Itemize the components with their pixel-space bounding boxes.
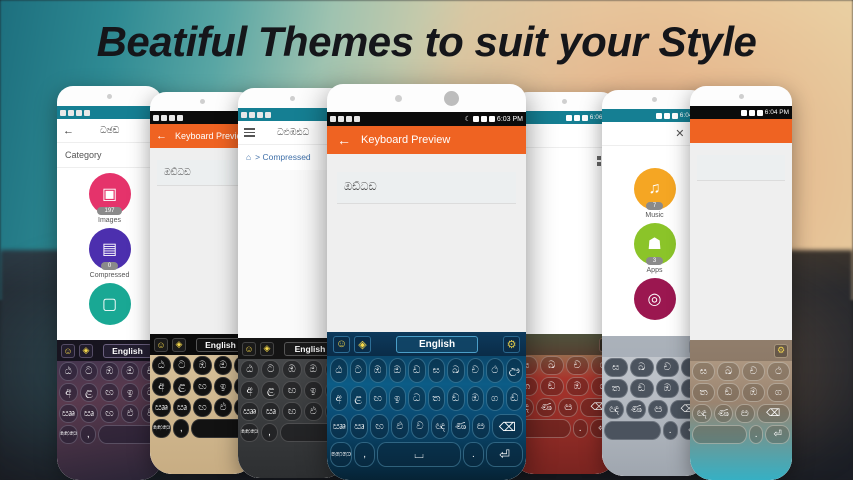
- key[interactable]: ට: [173, 356, 192, 375]
- keyboard-row-1: ඨ ට ඹ ඔ ඩ: [59, 362, 160, 381]
- status-bar: [57, 106, 162, 119]
- front-camera-icon: [444, 91, 459, 106]
- key[interactable]: ඛ: [540, 356, 564, 375]
- keyboard-rows: ඨ ට ඹ ඔ ඩ ඝ ඛ ච ථ ඌ අ ළ ඟ ඉ ධ ත: [327, 356, 526, 471]
- backspace-icon[interactable]: ⌫: [757, 404, 791, 423]
- keyboard-theme-blue: ☺ ◈ English ⚙ ඨ ට ඹ ඔ ඩ ඝ ඛ ච ථ ඌ: [327, 332, 526, 480]
- app-bar-title: ධඵඹඪධ: [277, 127, 309, 138]
- sync-icon: [330, 116, 336, 122]
- comma-key[interactable]: ,: [80, 425, 96, 444]
- enter-icon[interactable]: ⏎: [486, 442, 523, 467]
- back-arrow-icon[interactable]: ←: [156, 130, 167, 142]
- key[interactable]: ඍ: [261, 402, 280, 421]
- keyboard-theme-brown: ⚙ ඝ ඛ ච ථ ත ඞ ඹ ග ඥ ණ ඏ: [690, 340, 792, 480]
- key[interactable]: ඩ: [408, 358, 426, 383]
- key[interactable]: ඟ: [100, 404, 119, 423]
- keyboard-row-3: ඎ ඍ ඟ ඵ ව: [59, 404, 160, 423]
- key[interactable]: ඹ: [656, 379, 680, 398]
- key[interactable]: ඔ: [389, 358, 407, 383]
- sensor-dot: [290, 96, 295, 101]
- key[interactable]: ඎ: [330, 414, 348, 439]
- key[interactable]: ඏ: [648, 400, 668, 419]
- category-list: ▣ 197 Images ▤ 0 Compressed ▢: [57, 168, 162, 325]
- screenshot-icon: [68, 110, 74, 116]
- key[interactable]: ණ: [451, 414, 469, 439]
- back-arrow-icon[interactable]: ←: [337, 132, 351, 148]
- keyboard-row-2: අ ළ ඟ ඉ ධ ත ඞ ඹ ග ඬ: [330, 386, 523, 411]
- dnd-icon: ☾: [465, 115, 471, 123]
- key[interactable]: ඹ: [369, 358, 387, 383]
- key[interactable]: ඥ: [431, 414, 449, 439]
- space-key[interactable]: [604, 421, 661, 440]
- sensor-dot: [652, 97, 657, 102]
- close-icon[interactable]: ✕: [675, 127, 684, 140]
- app-bar: ← ධඡඞ: [57, 119, 162, 143]
- key[interactable]: ඟ: [282, 402, 301, 421]
- keyboard-toolbar: ⚙: [690, 340, 792, 361]
- key[interactable]: ඎ: [59, 404, 78, 423]
- sensor-dot: [562, 99, 567, 104]
- keyboard-row-2: අ ළ ඟ ඉ ධ: [59, 383, 160, 402]
- sdcard-icon: [84, 110, 90, 116]
- key[interactable]: ඞ: [540, 377, 564, 396]
- disc-icon: ◎: [634, 278, 676, 320]
- sensor-dot: [395, 95, 402, 102]
- key[interactable]: ඞ: [630, 379, 654, 398]
- signal-icon: [749, 110, 755, 116]
- numeric-key[interactable]: ෧෨෩: [240, 423, 259, 442]
- key[interactable]: ඹ: [193, 356, 212, 375]
- status-bar: 6:04 PM: [690, 106, 792, 119]
- key[interactable]: ඟ: [282, 381, 301, 400]
- key[interactable]: ඨ: [152, 356, 171, 375]
- category-item-apps[interactable]: ☗ 3 Apps: [634, 223, 676, 274]
- numeric-key[interactable]: ෧෨෩: [330, 442, 352, 467]
- smiley-icon[interactable]: ☺: [61, 344, 75, 358]
- key[interactable]: ඵ: [304, 402, 323, 421]
- key[interactable]: ච: [566, 356, 590, 375]
- key[interactable]: ඹ: [100, 362, 119, 381]
- sync-icon: [241, 112, 247, 118]
- app-bar-title: ධඡඞ: [100, 125, 119, 136]
- usb-icon: [257, 112, 263, 118]
- keyboard-row-4: . ⏎: [514, 419, 615, 438]
- sticker-icon[interactable]: ◈: [172, 338, 186, 352]
- status-right: 6:04 PM: [741, 109, 789, 116]
- key[interactable]: ඨ: [240, 360, 259, 379]
- period-key[interactable]: .: [749, 425, 764, 444]
- keyboard-row-1: ඨ ට ඹ ඔ ඩ ඝ ඛ ච ථ ඌ: [330, 358, 523, 383]
- key[interactable]: ඨ: [59, 362, 78, 381]
- key[interactable]: ළ: [173, 377, 192, 396]
- space-key[interactable]: ⌴: [377, 442, 460, 467]
- keyboard-row-3: ඎ ඍ ඟ ඵ ව ඥ ණ ඏ ⌫: [330, 414, 523, 439]
- usb-icon: [76, 110, 82, 116]
- category-count: 0: [101, 262, 118, 270]
- breadcrumb-label: > Compressed: [255, 152, 311, 162]
- key[interactable]: ඏ: [558, 398, 578, 417]
- key[interactable]: ඉ: [389, 386, 407, 411]
- key[interactable]: ට: [350, 358, 368, 383]
- category-item-compressed[interactable]: ▤ 0 Compressed: [89, 228, 131, 279]
- status-time: 6:04 PM: [765, 109, 789, 116]
- category-label: Music: [645, 212, 663, 219]
- backspace-icon[interactable]: ⌫: [492, 414, 523, 439]
- page-title: Beatiful Themes to suit your Style: [0, 18, 853, 66]
- keyboard-rows: ඝ ඛ ච ථ ත ඞ ඹ ග ඥ ණ ඏ ⌫: [690, 361, 792, 447]
- key[interactable]: ඎ: [240, 402, 259, 421]
- key[interactable]: ඵ: [214, 398, 233, 417]
- period-key[interactable]: .: [663, 421, 678, 440]
- key[interactable]: ග: [486, 386, 504, 411]
- key[interactable]: ච: [467, 358, 485, 383]
- sdcard-icon: [265, 112, 271, 118]
- keyboard-row-4: . ⏎: [692, 425, 790, 444]
- key[interactable]: ච: [742, 362, 765, 381]
- key[interactable]: ඍ: [350, 414, 368, 439]
- key[interactable]: ථ: [486, 358, 504, 383]
- sync-icon: [153, 115, 159, 121]
- preview-input[interactable]: [697, 155, 785, 181]
- sensor-dot: [107, 94, 112, 99]
- sticker-icon[interactable]: ◈: [79, 344, 93, 358]
- status-time: 6:03 PM: [497, 116, 523, 123]
- key[interactable]: ඟ: [369, 386, 387, 411]
- space-key[interactable]: [692, 425, 747, 444]
- key[interactable]: ඛ: [717, 362, 740, 381]
- key[interactable]: ඛ: [630, 358, 654, 377]
- category-item-folder[interactable]: ▢: [89, 283, 131, 325]
- category-item-music[interactable]: ♫ 7 Music: [634, 168, 676, 219]
- sdcard-icon: [354, 116, 360, 122]
- phone-bezel-top: [327, 84, 526, 112]
- category-header: Category: [57, 143, 162, 168]
- key[interactable]: ඹ: [282, 360, 301, 379]
- signal-icon: [574, 115, 580, 121]
- back-arrow-icon[interactable]: ←: [63, 125, 74, 137]
- keyboard-toolbar: ☺ ◈ English ⚙: [327, 332, 526, 356]
- sync-icon: [60, 110, 66, 116]
- keyboard-rows: ඨ ට ඹ ඔ ඩ අ ළ ඟ ඉ ධ ඎ ඍ ඟ ඵ: [57, 361, 162, 447]
- key[interactable]: ණ: [536, 398, 556, 417]
- app-bar: ← Keyboard Preview: [327, 126, 526, 154]
- key[interactable]: ඥ: [692, 404, 712, 423]
- key[interactable]: ඔ: [214, 356, 233, 375]
- key[interactable]: ඬ: [506, 386, 524, 411]
- key[interactable]: ග: [767, 383, 790, 402]
- period-key[interactable]: .: [573, 419, 588, 438]
- status-icons-left: [60, 110, 90, 116]
- category-label: Images: [98, 217, 121, 224]
- key[interactable]: ඍ: [80, 404, 99, 423]
- phone-mockup-4-featured: ☾ 6:03 PM ← Keyboard Preview ඔඩ්ධඩ ☺ ◈ E…: [327, 84, 526, 480]
- key[interactable]: ඏ: [735, 404, 755, 423]
- wifi-icon: [566, 115, 572, 121]
- key[interactable]: අ: [152, 377, 171, 396]
- battery-icon: [489, 116, 495, 122]
- category-count: 7: [646, 202, 663, 210]
- screenshot-icon: [338, 116, 344, 122]
- status-icons-left: [153, 115, 183, 121]
- key[interactable]: ඹ: [467, 386, 485, 411]
- wifi-icon: [656, 113, 662, 119]
- key[interactable]: ළ: [261, 381, 280, 400]
- key[interactable]: ඉ: [121, 383, 140, 402]
- key[interactable]: ළ: [350, 386, 368, 411]
- keyboard-row-3: ඥ ණ ඏ ⌫: [692, 404, 790, 423]
- category-item-images[interactable]: ▣ 197 Images: [89, 173, 131, 224]
- period-key[interactable]: .: [463, 442, 484, 467]
- key[interactable]: ඟ: [193, 398, 212, 417]
- preview-input[interactable]: ඔඩ්ධඩ: [337, 172, 516, 204]
- gear-icon[interactable]: ⚙: [774, 344, 788, 358]
- key[interactable]: ඞ: [447, 386, 465, 411]
- keyboard-row-4: ෧෨෩ , ⌴ . ⏎: [330, 442, 523, 467]
- key[interactable]: ඞ: [717, 383, 740, 402]
- category-count: 197: [97, 207, 121, 215]
- key[interactable]: ඔ: [121, 362, 140, 381]
- preview-input[interactable]: ඔඩ්ධඩ: [157, 160, 248, 186]
- usb-icon: [346, 116, 352, 122]
- key[interactable]: ඝ: [604, 358, 628, 377]
- app-bar-title: Keyboard Preview: [361, 134, 450, 146]
- phone-screen-7: 6:04 PM ⚙ ඝ ඛ ච ථ ත ඞ ඹ: [690, 106, 792, 480]
- key[interactable]: ට: [80, 362, 99, 381]
- numeric-key[interactable]: ෧෨෩: [152, 419, 171, 438]
- status-right: ☾ 6:03 PM: [465, 115, 523, 123]
- key[interactable]: ච: [656, 358, 680, 377]
- folder-icon: ▢: [89, 283, 131, 325]
- battery-icon: [582, 115, 588, 121]
- key[interactable]: ඹ: [566, 377, 590, 396]
- key[interactable]: ඟ: [193, 377, 212, 396]
- wifi-icon: [741, 110, 747, 116]
- key[interactable]: ඥ: [604, 400, 624, 419]
- category-label: Apps: [647, 267, 663, 274]
- enter-icon[interactable]: ⏎: [765, 425, 790, 444]
- key[interactable]: ඟ: [100, 383, 119, 402]
- phone-mockup-7: 6:04 PM ⚙ ඝ ඛ ච ථ ත ඞ ඹ: [690, 86, 792, 480]
- usb-icon: [169, 115, 175, 121]
- key[interactable]: ඍ: [173, 398, 192, 417]
- key[interactable]: අ: [240, 381, 259, 400]
- category-item-disc[interactable]: ◎: [634, 278, 676, 320]
- key[interactable]: ව: [411, 414, 429, 439]
- screenshot-icon: [249, 112, 255, 118]
- status-bar: ☾ 6:03 PM: [327, 112, 526, 126]
- phone-bezel-top: [690, 86, 792, 106]
- comma-key[interactable]: ,: [354, 442, 375, 467]
- phone-bezel-top: [57, 86, 162, 106]
- key[interactable]: ණ: [714, 404, 734, 423]
- key[interactable]: ඟ: [370, 414, 388, 439]
- key[interactable]: ඹ: [742, 383, 765, 402]
- keyboard-row-1: ඝ ඛ ච ථ: [514, 356, 615, 375]
- keyboard-row-2: ත ඞ ඹ ග: [514, 377, 615, 396]
- key[interactable]: ණ: [626, 400, 646, 419]
- key[interactable]: ඏ: [472, 414, 490, 439]
- key[interactable]: ඎ: [152, 398, 171, 417]
- sticker-icon[interactable]: ◈: [354, 336, 371, 353]
- phone-screen-1: ← ධඡඞ Category ▣ 197 Images ▤ 0 Compress…: [57, 106, 162, 480]
- key[interactable]: ථ: [767, 362, 790, 381]
- gear-icon[interactable]: ⚙: [503, 336, 520, 353]
- language-button[interactable]: English: [396, 336, 478, 353]
- sdcard-icon: [177, 115, 183, 121]
- key[interactable]: ත: [604, 379, 628, 398]
- phone-mockup-1: ← ධඡඞ Category ▣ 197 Images ▤ 0 Compress…: [57, 86, 162, 480]
- screenshot-icon: [161, 115, 167, 121]
- sensor-dot: [739, 94, 744, 99]
- keyboard-theme-purple: ☺ ◈ English ඨ ට ඹ ඔ ඩ අ ළ ඟ ඉ ධ: [57, 340, 162, 480]
- wifi-icon: [473, 116, 479, 122]
- key[interactable]: අ: [330, 386, 348, 411]
- keyboard-row-4: ෧෨෩ ,: [59, 425, 160, 444]
- key[interactable]: ඝ: [692, 362, 715, 381]
- comma-key[interactable]: ,: [173, 419, 189, 438]
- key[interactable]: ත: [428, 386, 446, 411]
- key[interactable]: අ: [59, 383, 78, 402]
- battery-icon: [672, 113, 678, 119]
- key[interactable]: ඨ: [330, 358, 348, 383]
- key[interactable]: ඝ: [428, 358, 446, 383]
- category-count: 3: [646, 257, 663, 265]
- status-icons-left: [241, 112, 271, 118]
- numeric-key[interactable]: ෧෨෩: [59, 425, 78, 444]
- phone-screen-4: ☾ 6:03 PM ← Keyboard Preview ඔඩ්ධඩ ☺ ◈ E…: [327, 112, 526, 480]
- key[interactable]: ඛ: [447, 358, 465, 383]
- smiley-icon[interactable]: ☺: [154, 338, 168, 352]
- smiley-icon[interactable]: ☺: [333, 336, 350, 353]
- hamburger-icon[interactable]: [244, 128, 255, 137]
- keyboard-toolbar: ☺ ◈ English: [57, 340, 162, 361]
- key[interactable]: ට: [261, 360, 280, 379]
- key[interactable]: ළ: [80, 383, 99, 402]
- keyboard-row-2: ත ඞ ඹ ග: [692, 383, 790, 402]
- key[interactable]: ඉ: [214, 377, 233, 396]
- keyboard-row-1: ඝ ඛ ච ථ: [692, 362, 790, 381]
- app-bar: [690, 119, 792, 143]
- key[interactable]: ඵ: [391, 414, 409, 439]
- sensor-dot: [200, 99, 205, 104]
- battery-icon: [757, 110, 763, 116]
- keyboard-row-3: ඥ ණ ඏ ⌫: [514, 398, 615, 417]
- home-icon[interactable]: ⌂: [246, 152, 251, 162]
- key[interactable]: ඔ: [304, 360, 323, 379]
- sticker-icon[interactable]: ◈: [260, 342, 274, 356]
- smiley-icon[interactable]: ☺: [242, 342, 256, 356]
- key[interactable]: ධ: [408, 386, 426, 411]
- status-icons-left: [330, 116, 360, 122]
- key[interactable]: ත: [692, 383, 715, 402]
- key[interactable]: ඉ: [304, 381, 323, 400]
- signal-icon: [481, 116, 487, 122]
- key[interactable]: ඵ: [121, 404, 140, 423]
- language-button[interactable]: English: [103, 344, 152, 358]
- key[interactable]: ඌ: [506, 358, 524, 383]
- category-label: Compressed: [90, 272, 130, 279]
- signal-icon: [664, 113, 670, 119]
- comma-key[interactable]: ,: [261, 423, 278, 442]
